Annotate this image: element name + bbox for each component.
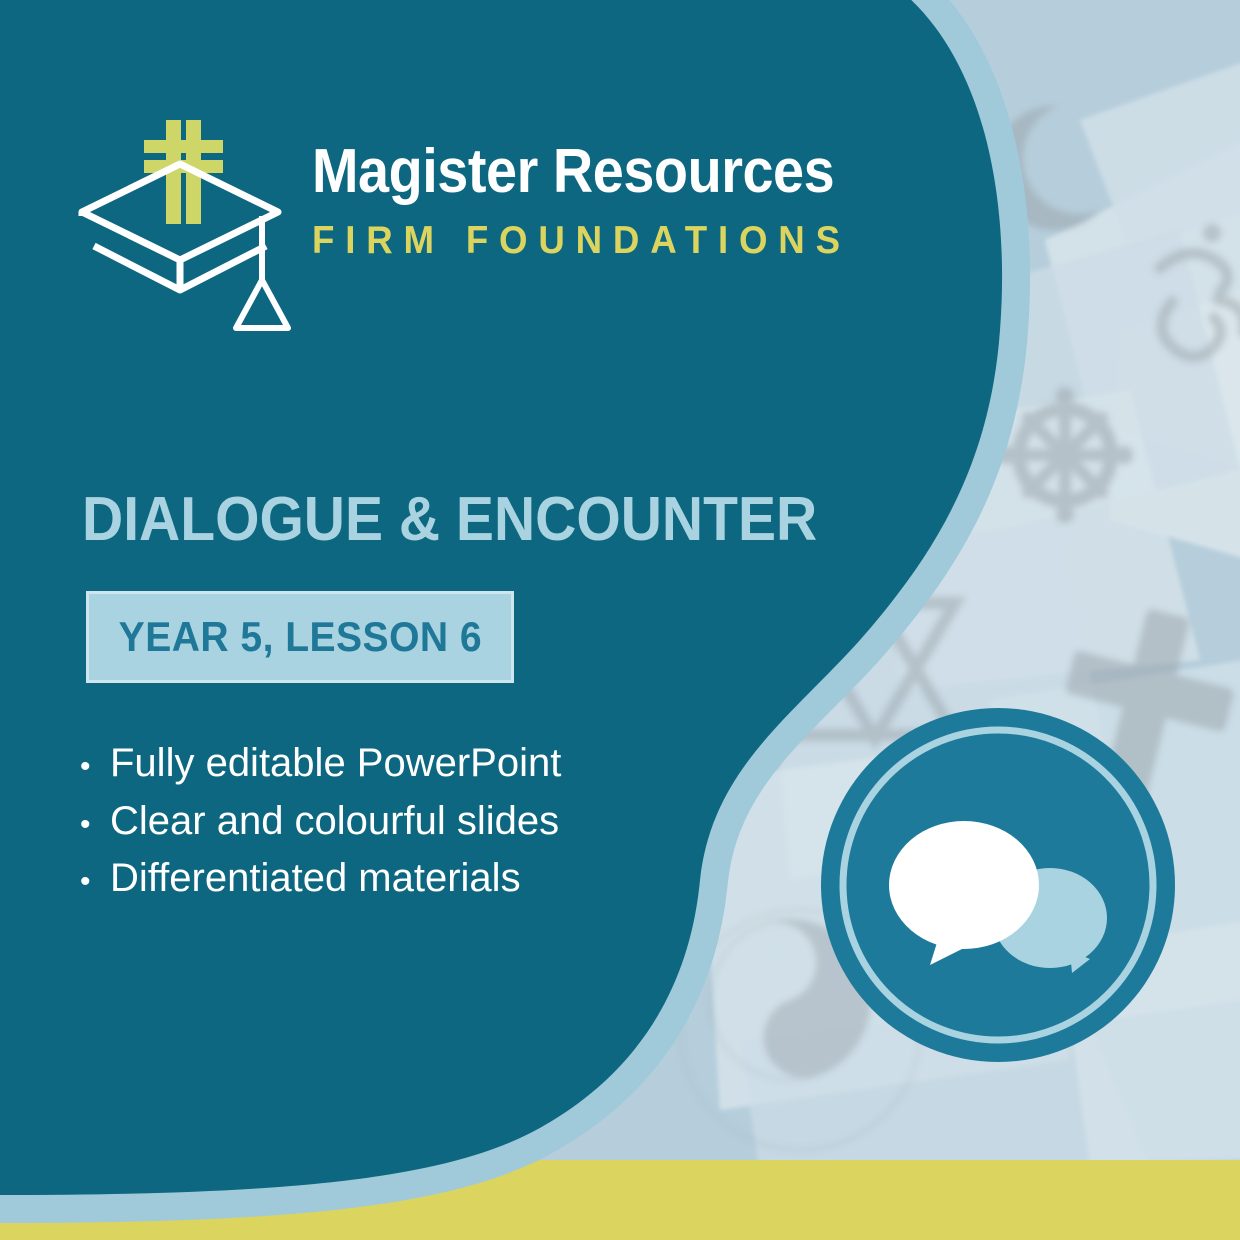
bullet-icon: • [80,803,110,846]
feature-label: Clear and colourful slides [110,793,559,851]
brand-lockup: Magister Resources FIRM FOUNDATIONS [72,112,892,337]
bullet-icon: • [80,745,110,788]
list-item: • Differentiated materials [80,850,561,908]
list-item: • Clear and colourful slides [80,793,561,851]
brand-text-block: Magister Resources FIRM FOUNDATIONS [312,112,892,263]
bullet-icon: • [80,860,110,903]
year-lesson-badge: YEAR 5, LESSON 6 [86,591,514,683]
poster-content: Magister Resources FIRM FOUNDATIONS DIAL… [0,0,1240,1240]
brand-name: Magister Resources [312,140,834,203]
lesson-title: DIALOGUE & ENCOUNTER [82,484,817,555]
feature-label: Differentiated materials [110,850,521,908]
feature-list: • Fully editable PowerPoint • Clear and … [80,735,561,908]
year-lesson-label: YEAR 5, LESSON 6 [118,613,481,661]
graduation-cap-with-cross-icon [72,112,302,337]
poster-canvas: Magister Resources FIRM FOUNDATIONS DIAL… [0,0,1240,1240]
feature-label: Fully editable PowerPoint [110,735,561,793]
list-item: • Fully editable PowerPoint [80,735,561,793]
speech-bubbles-icon [818,705,1178,1065]
brand-tagline: FIRM FOUNDATIONS [312,219,857,263]
